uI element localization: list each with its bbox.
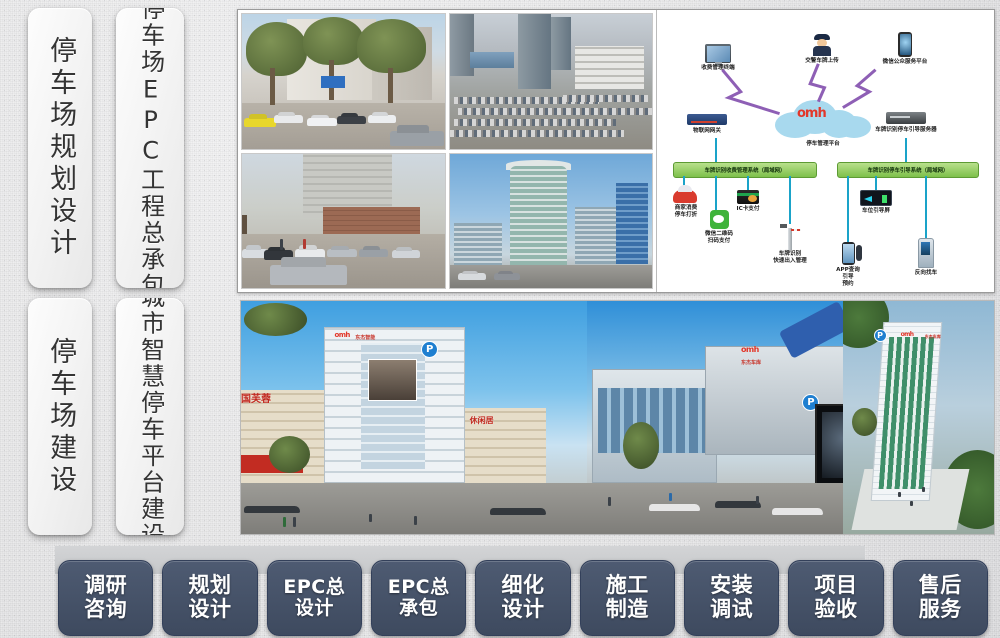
brand-cn-label: 东杰智能 bbox=[355, 334, 375, 341]
item-reverse-car-finding: 反向找车 bbox=[905, 238, 947, 277]
process-button-detailed-design[interactable]: 细化设计 bbox=[475, 560, 570, 636]
system-bar-toll: 车牌识别收费管理系统（局域网） bbox=[673, 162, 817, 178]
led-advertising-screen bbox=[815, 404, 843, 487]
brand-cn-label: 东杰车库 bbox=[925, 334, 941, 340]
item-app-query: APP查询 引导 预约 bbox=[827, 242, 869, 288]
render-aerial-parking-tower: P omh 东杰车库 bbox=[843, 301, 994, 534]
process-button-epc-contracting[interactable]: EPC总承包 bbox=[371, 560, 466, 636]
process-button-line2: 咨询 bbox=[84, 598, 127, 622]
process-button-line2: 调试 bbox=[710, 598, 753, 622]
service-card-epc-contracting[interactable]: 停车场EPC工程总承包 bbox=[116, 8, 184, 288]
process-button-row: 调研咨询 规划设计 EPC总设计 EPC总承包 细化设计 施工制造 安装调试 项… bbox=[58, 560, 988, 636]
process-button-line2: 承包 bbox=[388, 598, 450, 619]
system-bar-toll-label: 车牌识别收费管理系统（局域网） bbox=[705, 166, 786, 174]
kiosk-terminal-icon bbox=[918, 238, 934, 268]
ic-card-icon bbox=[737, 190, 759, 204]
diagram-label-reverse-car-finding: 反向找车 bbox=[905, 270, 947, 277]
process-button-line2: 设计 bbox=[188, 598, 231, 622]
photo-brick-building-lot bbox=[241, 153, 446, 290]
process-button-line2: 设计 bbox=[501, 598, 544, 622]
diagram-label-space-guidance-screen: 车位引导屏 bbox=[855, 208, 897, 215]
omh-logo: omh bbox=[901, 331, 914, 338]
process-button-line1: EPC总 bbox=[283, 577, 345, 598]
photo-glass-office-tower bbox=[449, 153, 654, 290]
service-card-label: 停车场建设 bbox=[46, 337, 74, 497]
process-button-line2: 服务 bbox=[919, 598, 962, 622]
service-card-smart-platform[interactable]: 城市智慧停车平台建设 bbox=[116, 298, 184, 535]
item-plate-fast-access: 车牌识别 快速出入管理 bbox=[765, 224, 815, 265]
process-button-line1: 调研 bbox=[84, 574, 127, 598]
photo-grid bbox=[238, 10, 656, 292]
system-bar-guidance: 车牌识别停车引导系统（局域网） bbox=[837, 162, 979, 178]
service-card-label: 停车场EPC工程总承包 bbox=[137, 8, 162, 288]
diagram-label-plate-fast-access: 车牌识别 快速出入管理 bbox=[765, 251, 815, 265]
render-parking-garage-facade: omh 东杰车库 P bbox=[587, 301, 843, 534]
process-button-line2: 制造 bbox=[606, 598, 649, 622]
process-button-project-acceptance[interactable]: 项目验收 bbox=[788, 560, 883, 636]
process-button-after-sales[interactable]: 售后服务 bbox=[893, 560, 988, 636]
led-guidance-screen-icon bbox=[860, 190, 892, 206]
photo-surface-parking-lot bbox=[241, 13, 446, 150]
parking-tower-building bbox=[324, 327, 465, 483]
process-button-installation-commissioning[interactable]: 安装调试 bbox=[684, 560, 779, 636]
process-button-line1: 安装 bbox=[710, 574, 753, 598]
garage-building bbox=[592, 369, 717, 483]
photo-aerial-parking-lot bbox=[449, 13, 654, 150]
process-button-research[interactable]: 调研咨询 bbox=[58, 560, 153, 636]
omh-logo: omh bbox=[741, 345, 759, 354]
service-card-planning-design[interactable]: 停车场规划设计 bbox=[28, 8, 92, 288]
system-bar-guidance-label: 车牌识别停车引导系统（局域网） bbox=[868, 166, 949, 174]
wechat-icon bbox=[710, 210, 729, 229]
process-button-manufacturing[interactable]: 施工制造 bbox=[580, 560, 675, 636]
street-sign-right: 休闲居 bbox=[470, 415, 494, 426]
brand-cn-label: 东杰车库 bbox=[741, 359, 761, 366]
process-button-epc-design[interactable]: EPC总设计 bbox=[267, 560, 362, 636]
service-card-label: 停车场规划设计 bbox=[46, 36, 74, 260]
process-button-line1: EPC总 bbox=[388, 577, 450, 598]
process-button-line1: 售后 bbox=[919, 574, 962, 598]
parking-p-mark: P bbox=[421, 341, 438, 358]
service-card-construction[interactable]: 停车场建设 bbox=[28, 298, 92, 535]
process-button-line1: 施工 bbox=[606, 574, 649, 598]
process-button-line1: 细化 bbox=[501, 574, 544, 598]
process-button-line1: 规划 bbox=[188, 574, 231, 598]
top-panel: omh 停车管理平台 收费管理终端 交警车牌上传 微信公众服务平台 物联网网关 bbox=[237, 9, 995, 293]
process-button-line2: 设计 bbox=[283, 598, 345, 619]
car-icon bbox=[673, 190, 697, 203]
item-wechat-qr-pay: 微信二维码 扫码支付 bbox=[695, 210, 743, 245]
process-button-line2: 验收 bbox=[814, 598, 857, 622]
system-architecture-diagram: omh 停车管理平台 收费管理终端 交警车牌上传 微信公众服务平台 物联网网关 bbox=[656, 10, 994, 292]
render-mechanical-parking-tower: 国芙蓉 休闲居 omh 东杰智能 P bbox=[241, 301, 587, 534]
service-card-label: 城市智慧停车平台建设 bbox=[137, 298, 162, 535]
diagram-label-app-query: APP查询 引导 预约 bbox=[827, 267, 869, 288]
building-billboard bbox=[368, 359, 417, 401]
mobile-app-icon bbox=[842, 242, 855, 265]
diagram-label-wechat-qr-pay: 微信二维码 扫码支付 bbox=[695, 231, 743, 245]
item-space-guidance-screen: 车位引导屏 bbox=[855, 190, 897, 215]
aerial-tower-building bbox=[870, 322, 942, 501]
barrier-gate-icon bbox=[779, 224, 801, 250]
poster-canvas: 停车场规划设计 停车场EPC工程总承包 停车场建设 城市智慧停车平台建设 bbox=[0, 0, 1000, 638]
item-ic-card-pay: IC卡支付 bbox=[727, 190, 769, 213]
street-sign-left: 国芙蓉 bbox=[241, 390, 271, 405]
omh-brand-text: omh bbox=[797, 106, 826, 121]
process-button-planning-design[interactable]: 规划设计 bbox=[162, 560, 257, 636]
omh-logo: omh bbox=[335, 331, 350, 339]
render-panel: 国芙蓉 休闲居 omh 东杰智能 P omh bbox=[240, 300, 995, 535]
parking-p-mark: P bbox=[874, 329, 887, 342]
diagram-label-ic-card-pay: IC卡支付 bbox=[727, 206, 769, 213]
process-button-line1: 项目 bbox=[814, 574, 857, 598]
